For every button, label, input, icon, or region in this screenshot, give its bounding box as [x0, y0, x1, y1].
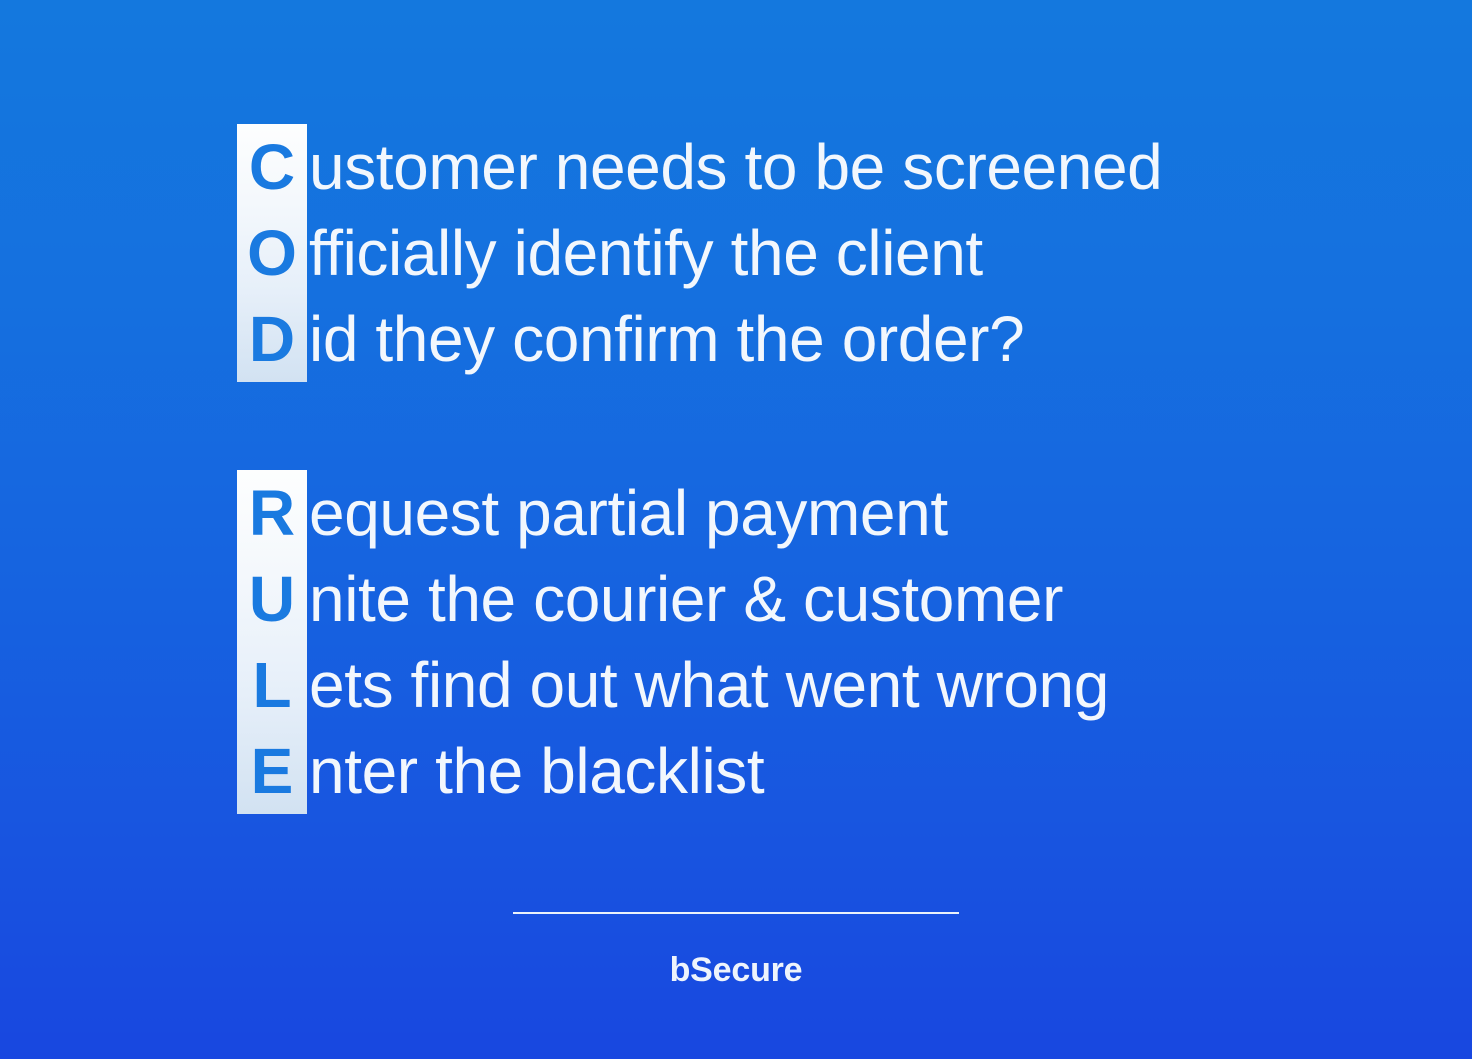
acronym-row: D id they confirm the order?	[237, 296, 1162, 382]
acronym-initial-d: D	[237, 296, 307, 382]
acronym-phrase-d: id they confirm the order?	[309, 296, 1024, 382]
acronym-initial-r: R	[237, 470, 307, 556]
acronym-block-rule: R equest partial payment U nite the cour…	[237, 470, 1109, 814]
acronym-initial-l: L	[237, 642, 307, 728]
acronym-phrase-o: fficially identify the client	[309, 210, 983, 296]
acronym-rows-rule: R equest partial payment U nite the cour…	[237, 470, 1109, 814]
footer-divider	[513, 912, 959, 914]
acronym-row: E nter the blacklist	[237, 728, 1109, 814]
acronym-rows-cod: C ustomer needs to be screened O fficial…	[237, 124, 1162, 382]
acronym-row: U nite the courier & customer	[237, 556, 1109, 642]
acronym-row: L ets find out what went wrong	[237, 642, 1109, 728]
acronym-phrase-l: ets find out what went wrong	[309, 642, 1109, 728]
acronym-initial-c: C	[237, 124, 307, 210]
acronym-initial-o: O	[237, 210, 307, 296]
acronym-initial-e: E	[237, 728, 307, 814]
acronym-row: R equest partial payment	[237, 470, 1109, 556]
acronym-block-cod: C ustomer needs to be screened O fficial…	[237, 124, 1162, 382]
poster-canvas: C ustomer needs to be screened O fficial…	[0, 0, 1472, 1059]
acronym-initial-u: U	[237, 556, 307, 642]
acronym-row: O fficially identify the client	[237, 210, 1162, 296]
acronym-phrase-e: nter the blacklist	[309, 728, 764, 814]
acronym-row: C ustomer needs to be screened	[237, 124, 1162, 210]
footer: bSecure	[0, 912, 1472, 990]
brand-name: bSecure	[0, 950, 1472, 990]
acronym-phrase-r: equest partial payment	[309, 470, 948, 556]
acronym-phrase-c: ustomer needs to be screened	[309, 124, 1162, 210]
acronym-phrase-u: nite the courier & customer	[309, 556, 1063, 642]
